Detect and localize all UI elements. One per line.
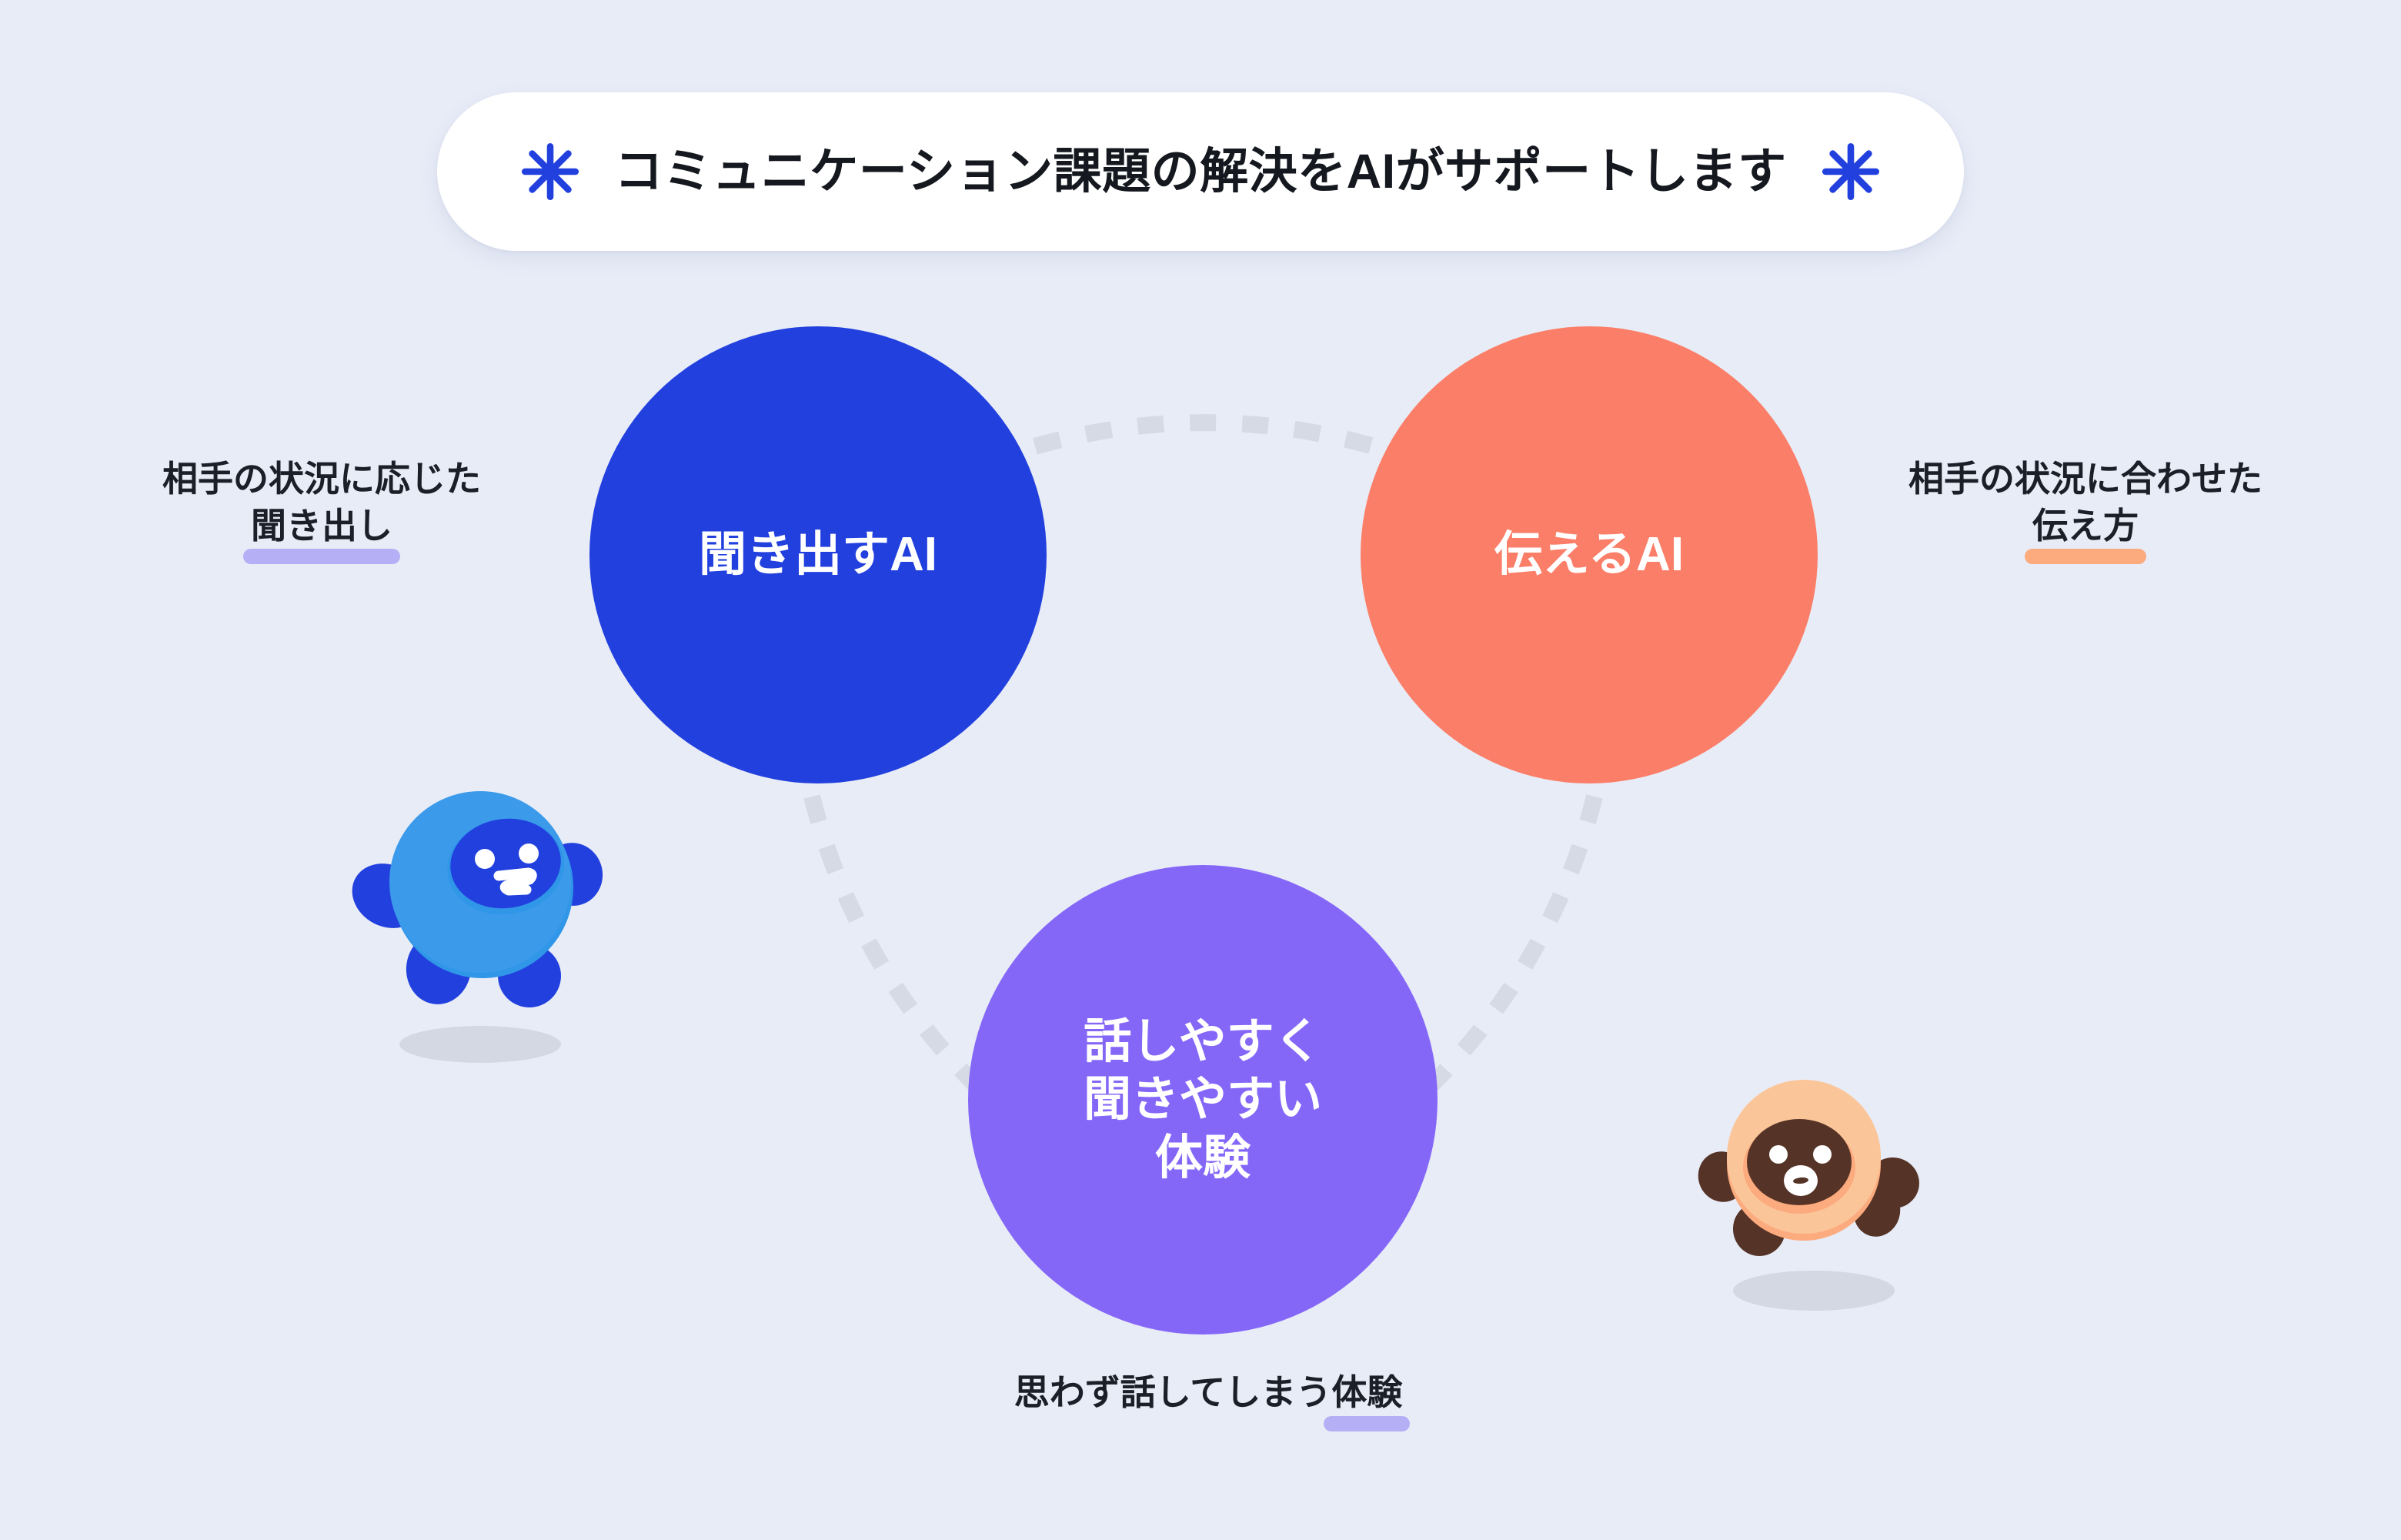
left-annotation-line2-wrap: 聞き出し — [83, 503, 560, 550]
diagram-stage: コミュニケーション課題の解決をAIがサポートします 聞き出すAI 伝えるAI 話… — [0, 0, 2401, 1540]
left-annotation-line1: 相手の状況に応じた — [83, 456, 560, 503]
bottom-annotation-text: 思わず話してしまう — [1014, 1372, 1332, 1412]
node-tell-ai-label: 伝えるAI — [1494, 526, 1684, 584]
left-annotation-line2: 聞き出し — [251, 503, 392, 550]
bottom-annotation-highlight: 体験 — [1331, 1370, 1402, 1416]
right-annotation-line2-wrap: 伝え方 — [1839, 503, 2332, 550]
right-annotation: 相手の状況に合わせた 伝え方 — [1839, 456, 2332, 549]
blue-mascot-eye-right — [519, 843, 539, 864]
node-experience[interactable]: 話しやすく 聞きやすい 体験 — [968, 865, 1438, 1335]
left-annotation: 相手の状況に応じた 聞き出し — [83, 456, 560, 549]
node-listen-ai[interactable]: 聞き出すAI — [589, 326, 1047, 783]
blue-character-icon — [348, 790, 625, 1067]
brown-mascot-eye-left — [1769, 1145, 1788, 1164]
right-annotation-line2: 伝え方 — [2032, 503, 2139, 550]
node-experience-label: 話しやすく 聞きやすい 体験 — [1084, 1013, 1322, 1188]
header-card: コミュニケーション課題の解決をAIがサポートします — [437, 92, 1964, 251]
arc-tell-to-experience — [1407, 797, 1595, 1108]
node-listen-ai-label: 聞き出すAI — [699, 526, 937, 584]
sparkle-icon-left — [520, 142, 580, 202]
brown-mascot-eye-right — [1813, 1145, 1832, 1164]
node-tell-ai[interactable]: 伝えるAI — [1361, 326, 1818, 783]
bottom-annotation: 思わず話してしまう体験 — [870, 1370, 1547, 1416]
page-title: コミュニケーション課題の解決をAIがサポートします — [614, 148, 1786, 196]
right-annotation-line1: 相手の状況に合わせた — [1839, 456, 2332, 503]
brown-mascot-shadow — [1733, 1271, 1895, 1311]
blue-mascot-shadow — [399, 1026, 561, 1063]
arc-listen-to-tell — [1035, 423, 1374, 446]
blue-mascot-eye-left — [475, 849, 495, 869]
sparkle-icon-right — [1821, 142, 1881, 202]
blue-mascot-mouth — [499, 873, 532, 890]
brown-character-icon — [1687, 1071, 1964, 1325]
